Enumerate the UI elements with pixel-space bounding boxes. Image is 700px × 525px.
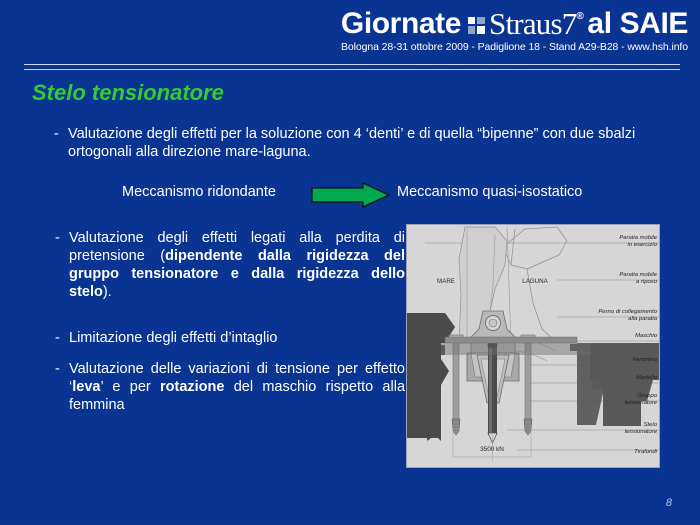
- bullet-marker: -: [55, 360, 69, 414]
- callout-paratia-esercizio-l1: Paratia mobile: [619, 235, 657, 241]
- callout-martello: Martello: [636, 375, 658, 381]
- callout-stelo-l2: tensionatore: [625, 429, 658, 435]
- bullet-text: Valutazione degli effetti legati alla pe…: [69, 229, 405, 301]
- bullet-text: Limitazione degli effetti d’intaglio: [69, 329, 278, 347]
- callout-gruppo-l1: Gruppo: [637, 393, 657, 399]
- transition-left-label: Meccanismo ridondante: [122, 184, 276, 200]
- bullet-marker: -: [54, 125, 68, 161]
- diagram-load-label: 3500 kN: [480, 446, 504, 453]
- bullet-text: Valutazione delle variazioni di tensione…: [69, 360, 405, 414]
- bullet-segment-bold: rotazione: [160, 379, 224, 395]
- diagram-label-mare: MARE: [437, 278, 455, 285]
- callout-femmina: Femmina: [632, 357, 657, 363]
- bullet-marker: -: [55, 329, 69, 347]
- bullet-segment: ).: [103, 284, 112, 300]
- callout-perno-l1: Perno di collegamento: [598, 309, 657, 315]
- stelo-tensionatore-technical-drawing: MARE LAGUNA: [406, 224, 660, 468]
- list-item: - Limitazione degli effetti d’intaglio: [55, 329, 405, 347]
- list-item: - Valutazione delle variazioni di tensio…: [55, 360, 405, 414]
- callout-paratia-riposo-l2: a riposo: [636, 279, 658, 285]
- slide-root: Giornate Straus7® al SAIE Bologna 28-31 …: [0, 0, 700, 525]
- diagram-svg: MARE LAGUNA: [407, 225, 659, 467]
- right-arrow-icon: [311, 182, 391, 208]
- bullet-segment: Limitazione degli effetti d’intaglio: [69, 330, 278, 346]
- callout-paratia-riposo-l1: Paratia mobile: [619, 272, 657, 278]
- bullet-segment: ’ e per: [100, 379, 160, 395]
- diagram-label-laguna: LAGUNA: [522, 278, 548, 285]
- bullet-text: Valutazione degli effetti per la soluzio…: [68, 125, 652, 161]
- callout-perno-l2: alla paratia: [628, 316, 658, 322]
- callout-maschio: Maschio: [635, 333, 658, 339]
- transition-right-label: Meccanismo quasi-isostatico: [397, 184, 582, 200]
- page-number: 8: [666, 497, 672, 509]
- list-item: - Valutazione degli effetti legati alla …: [55, 229, 405, 301]
- bullet-segment: Valutazione degli effetti per la soluzio…: [68, 126, 635, 160]
- bullet-marker: -: [55, 229, 69, 301]
- callout-stelo-l1: Stelo: [644, 422, 658, 428]
- callout-gruppo-l2: tensionatore: [625, 400, 658, 406]
- callout-tirafondi: Tirafondi: [634, 449, 658, 455]
- list-item: - Valutazione degli effetti per la soluz…: [54, 125, 652, 161]
- transition-row: Meccanismo ridondante Meccanismo quasi-i…: [0, 182, 700, 208]
- bullet-segment-bold: leva: [72, 379, 100, 395]
- callout-paratia-esercizio-l2: in esercizio: [628, 242, 658, 248]
